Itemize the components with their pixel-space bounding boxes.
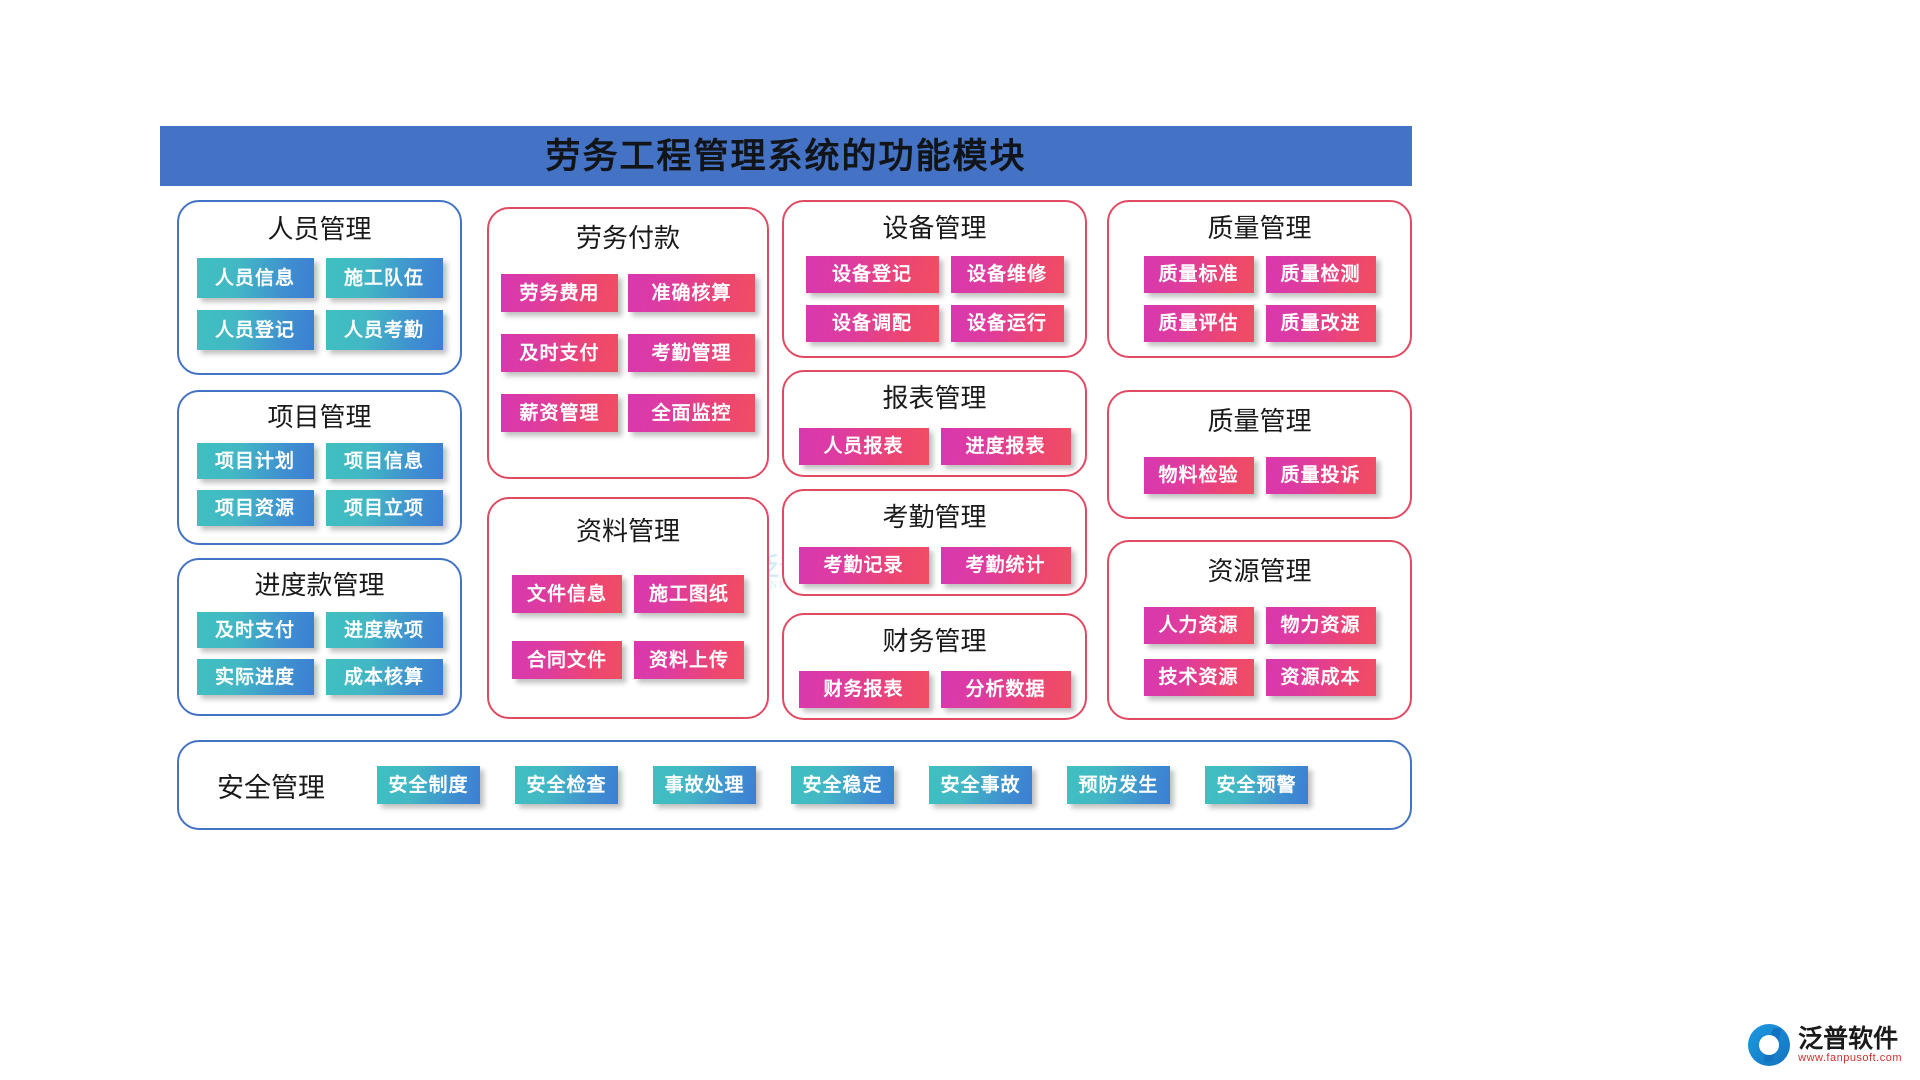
module-button[interactable]: 资源成本 (1266, 659, 1376, 696)
panel-labor-payment[interactable]: 劳务付款 劳务费用 准确核算 及时支付 考勤管理 薪资管理 全面监控 (487, 207, 769, 479)
module-button[interactable]: 技术资源 (1144, 659, 1254, 696)
module-button[interactable]: 财务报表 (799, 671, 929, 708)
module-button[interactable]: 及时支付 (501, 334, 618, 372)
page-title: 劳务工程管理系统的功能模块 (545, 139, 1026, 174)
module-button[interactable]: 质量评估 (1144, 305, 1254, 342)
panel-report-management[interactable]: 报表管理 人员报表 进度报表 (782, 370, 1087, 477)
module-button[interactable]: 人员考勤 (326, 310, 443, 350)
module-button[interactable]: 实际进度 (197, 659, 314, 695)
module-button[interactable]: 项目立项 (326, 490, 443, 526)
module-button[interactable]: 质量投诉 (1266, 457, 1376, 494)
module-button[interactable]: 全面监控 (628, 394, 755, 432)
module-button[interactable]: 项目信息 (326, 443, 443, 479)
module-button[interactable]: 人员报表 (799, 428, 929, 465)
module-button[interactable]: 安全稳定 (791, 766, 894, 804)
module-button[interactable]: 考勤管理 (628, 334, 755, 372)
module-button[interactable]: 安全事故 (929, 766, 1032, 804)
panel-title-quality-management-1: 质量管理 (1109, 216, 1410, 242)
panel-title-equipment-management: 设备管理 (784, 216, 1085, 242)
module-button[interactable]: 合同文件 (512, 641, 622, 679)
panel-safety-management[interactable]: 安全管理 安全制度 安全检查 事故处理 安全稳定 安全事故 预防发生 安全预警 (177, 740, 1412, 830)
panel-attendance-management[interactable]: 考勤管理 考勤记录 考勤统计 (782, 489, 1087, 596)
panel-title-resource-management: 资源管理 (1109, 559, 1410, 585)
panel-title-personnel-management: 人员管理 (179, 217, 460, 243)
panel-equipment-management[interactable]: 设备管理 设备登记 设备维修 设备调配 设备运行 (782, 200, 1087, 358)
panel-data-management[interactable]: 资料管理 文件信息 施工图纸 合同文件 资料上传 (487, 497, 769, 719)
module-button[interactable]: 分析数据 (941, 671, 1071, 708)
panel-personnel-management[interactable]: 人员管理 人员信息 施工队伍 人员登记 人员考勤 (177, 200, 462, 375)
module-button[interactable]: 项目计划 (197, 443, 314, 479)
module-button[interactable]: 质量改进 (1266, 305, 1376, 342)
slide-canvas: 劳务工程管理系统的功能模块 泛普软件 FANPU SOFTWARE 人员管理 人… (0, 0, 1920, 1080)
module-button[interactable]: 设备登记 (806, 256, 939, 293)
panel-title-progress-payment-management: 进度款管理 (179, 573, 460, 599)
module-button[interactable]: 设备调配 (806, 305, 939, 342)
panel-project-management[interactable]: 项目管理 项目计划 项目信息 项目资源 项目立项 (177, 390, 462, 545)
module-button[interactable]: 项目资源 (197, 490, 314, 526)
module-button[interactable]: 设备运行 (951, 305, 1064, 342)
module-button[interactable]: 成本核算 (326, 659, 443, 695)
module-button[interactable]: 事故处理 (653, 766, 756, 804)
panel-quality-management-2[interactable]: 质量管理 物料检验 质量投诉 (1107, 390, 1412, 519)
module-button[interactable]: 薪资管理 (501, 394, 618, 432)
brand-url: www.fanpusoft.com (1798, 1052, 1902, 1064)
module-button[interactable]: 考勤记录 (799, 547, 929, 584)
module-button[interactable]: 质量标准 (1144, 256, 1254, 293)
module-button[interactable]: 安全检查 (515, 766, 618, 804)
module-button[interactable]: 进度款项 (326, 612, 443, 648)
panel-quality-management-1[interactable]: 质量管理 质量标准 质量检测 质量评估 质量改进 (1107, 200, 1412, 358)
module-button[interactable]: 及时支付 (197, 612, 314, 648)
module-button[interactable]: 准确核算 (628, 274, 755, 312)
module-button[interactable]: 进度报表 (941, 428, 1071, 465)
panel-resource-management[interactable]: 资源管理 人力资源 物力资源 技术资源 资源成本 (1107, 540, 1412, 720)
module-button[interactable]: 安全制度 (377, 766, 480, 804)
panel-title-labor-payment: 劳务付款 (489, 226, 767, 252)
module-button[interactable]: 质量检测 (1266, 256, 1376, 293)
brand-logo: 泛普软件 www.fanpusoft.com (1748, 1024, 1902, 1066)
module-button[interactable]: 考勤统计 (941, 547, 1071, 584)
module-button[interactable]: 设备维修 (951, 256, 1064, 293)
panel-title-data-management: 资料管理 (489, 519, 767, 545)
module-button[interactable]: 人员信息 (197, 258, 314, 298)
module-button[interactable]: 安全预警 (1205, 766, 1308, 804)
panel-title-attendance-management: 考勤管理 (784, 505, 1085, 531)
brand-name-cn: 泛普软件 (1798, 1026, 1902, 1052)
module-button[interactable]: 物力资源 (1266, 607, 1376, 644)
module-button[interactable]: 物料检验 (1144, 457, 1254, 494)
panel-title-safety-management: 安全管理 (217, 766, 325, 805)
module-button[interactable]: 资料上传 (634, 641, 744, 679)
module-button[interactable]: 施工队伍 (326, 258, 443, 298)
panel-progress-payment-management[interactable]: 进度款管理 及时支付 进度款项 实际进度 成本核算 (177, 558, 462, 716)
panel-finance-management[interactable]: 财务管理 财务报表 分析数据 (782, 613, 1087, 720)
panel-title-project-management: 项目管理 (179, 405, 460, 431)
panel-title-quality-management-2: 质量管理 (1109, 409, 1410, 435)
module-button[interactable]: 文件信息 (512, 575, 622, 613)
module-button[interactable]: 施工图纸 (634, 575, 744, 613)
module-button[interactable]: 人员登记 (197, 310, 314, 350)
panel-title-report-management: 报表管理 (784, 386, 1085, 412)
module-button[interactable]: 人力资源 (1144, 607, 1254, 644)
page-title-bar: 劳务工程管理系统的功能模块 (160, 126, 1412, 186)
brand-logo-icon (1748, 1024, 1790, 1066)
panel-title-finance-management: 财务管理 (784, 629, 1085, 655)
module-button[interactable]: 劳务费用 (501, 274, 618, 312)
module-button[interactable]: 预防发生 (1067, 766, 1170, 804)
